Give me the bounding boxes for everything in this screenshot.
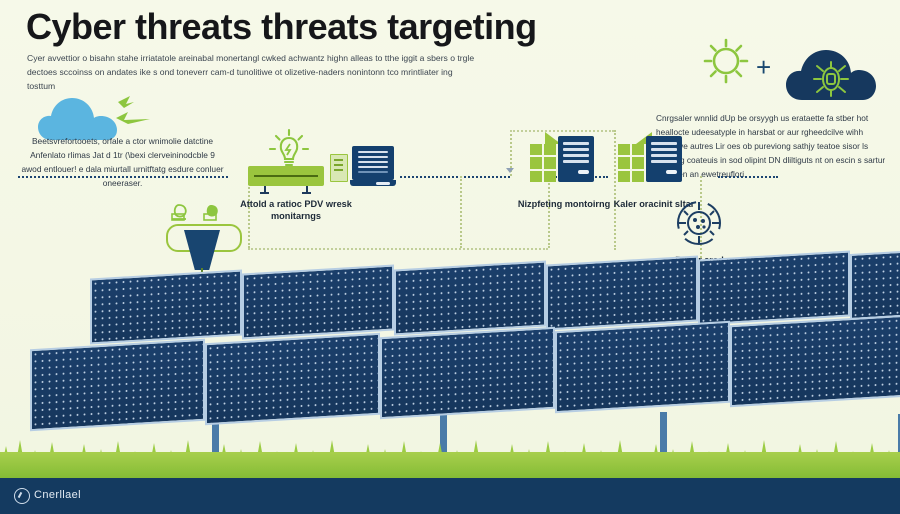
- loop-vertical-right: [548, 176, 550, 248]
- connector-right: [718, 176, 778, 178]
- monitor-icon: [350, 146, 396, 190]
- circle-mark-logo-icon: [14, 488, 30, 504]
- solar-panel: [698, 250, 850, 325]
- solar-panel: [730, 315, 900, 407]
- lightbulb-icon: [268, 128, 310, 170]
- solar-panel: [30, 339, 205, 431]
- solar-panel: [394, 260, 546, 335]
- solar-panel: [242, 264, 394, 339]
- arrow-down-icon: [506, 168, 514, 173]
- solar-panel: [555, 321, 730, 413]
- server-grid: [530, 144, 556, 182]
- solar-panel-array: [0, 264, 900, 464]
- server-tower: [558, 136, 594, 182]
- connector-mid-1: [400, 176, 510, 178]
- navy-cloud-icon: [786, 50, 876, 100]
- node-monitoring-icon[interactable]: [530, 132, 594, 182]
- leaf-icon: [200, 202, 222, 222]
- solar-panel: [850, 248, 900, 320]
- connector-left: [18, 176, 228, 178]
- leaf-icon: [168, 202, 190, 222]
- loop-horizontal: [248, 248, 548, 250]
- branch-vertical-right: [614, 130, 616, 250]
- inverter-bar: [254, 175, 318, 177]
- infographic-poster: Cyber threats threats targeting Cyer avv…: [0, 0, 900, 514]
- solar-panel: [380, 327, 555, 419]
- virus-crosshair-icon[interactable]: [672, 196, 726, 250]
- footer-text: Cnerllael: [34, 489, 81, 501]
- page-title: Cyber threats threats targeting: [26, 6, 546, 47]
- right-icon-group: [690, 34, 880, 106]
- solar-panel: [205, 333, 380, 425]
- green-sun-icon: [705, 40, 747, 82]
- green-document-icon: [330, 154, 348, 182]
- server-tower: [646, 136, 682, 182]
- plus-symbol: +: [756, 54, 771, 80]
- inverter-foot: [260, 192, 269, 194]
- solar-panel: [90, 269, 242, 344]
- solar-panel: [546, 255, 698, 330]
- inverter-foot: [302, 192, 311, 194]
- page-subtitle: Cyer avvettior o bisahn stahe irriatatol…: [27, 52, 482, 94]
- loop-vertical-mid: [460, 176, 462, 248]
- node-data-store-icon[interactable]: [618, 132, 682, 182]
- footer-bar: Cnerllael: [0, 478, 900, 514]
- node-label-inverter: Attold a ratioc PDV wresk monitarngs: [236, 198, 356, 223]
- server-grid: [618, 144, 644, 182]
